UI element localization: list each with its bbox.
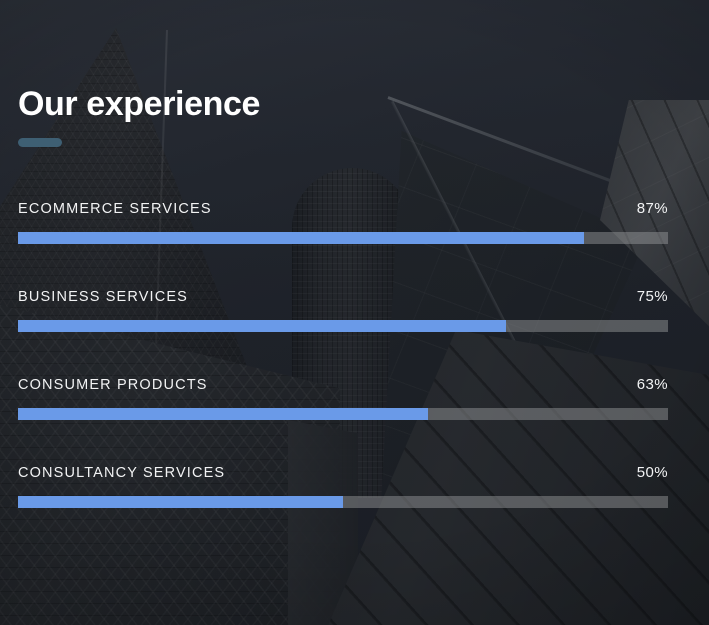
skill-row: CONSULTANCY SERVICES 50% [18,464,668,522]
page-title: Our experience [18,82,260,126]
skill-progress-fill [18,232,584,244]
skill-percent: 87% [637,200,668,217]
skill-progress-fill [18,496,343,508]
skill-progress-track [18,232,668,244]
skill-header: CONSULTANCY SERVICES 50% [18,464,668,486]
skill-percent: 63% [637,376,668,393]
skill-label: CONSULTANCY SERVICES [18,465,225,481]
skill-label: BUSINESS SERVICES [18,289,188,305]
skill-header: ECOMMERCE SERVICES 87% [18,200,668,222]
skill-progress-fill [18,408,428,420]
skill-row: BUSINESS SERVICES 75% [18,288,668,346]
skill-header: BUSINESS SERVICES 75% [18,288,668,310]
title-accent-bar [18,138,62,147]
experience-section: Our experience ECOMMERCE SERVICES 87% BU… [0,0,709,625]
skill-progress-track [18,496,668,508]
skill-label: ECOMMERCE SERVICES [18,201,212,217]
skill-label: CONSUMER PRODUCTS [18,377,208,393]
skill-percent: 50% [637,464,668,481]
skill-progress-fill [18,320,506,332]
skill-header: CONSUMER PRODUCTS 63% [18,376,668,398]
skill-row: CONSUMER PRODUCTS 63% [18,376,668,434]
skill-progress-track [18,408,668,420]
skills-list: ECOMMERCE SERVICES 87% BUSINESS SERVICES… [18,200,668,522]
section-content: Our experience ECOMMERCE SERVICES 87% BU… [0,0,709,625]
skill-percent: 75% [637,288,668,305]
skill-progress-track [18,320,668,332]
skill-row: ECOMMERCE SERVICES 87% [18,200,668,258]
